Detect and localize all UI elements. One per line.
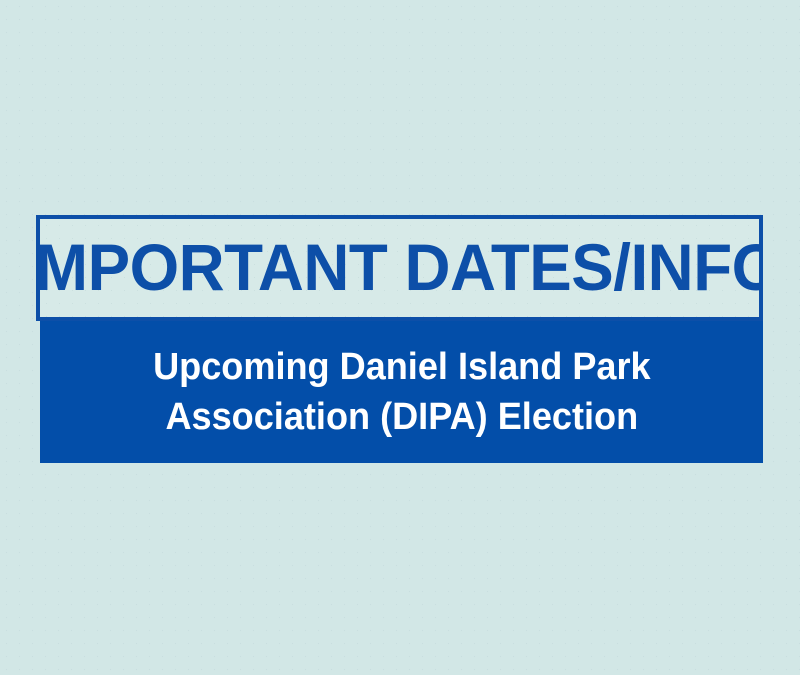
title-box: IMPORTANT DATES/INFO [36, 215, 763, 321]
subtitle-block: Upcoming Daniel Island Park Association … [40, 321, 763, 463]
subtitle-line-1: Upcoming Daniel Island Park [153, 342, 651, 392]
page-title: IMPORTANT DATES/INFO [36, 234, 763, 300]
poster-canvas: IMPORTANT DATES/INFO Upcoming Daniel Isl… [0, 0, 800, 675]
subtitle-line-2: Association (DIPA) Election [165, 392, 638, 442]
announcement-banner: IMPORTANT DATES/INFO Upcoming Daniel Isl… [36, 215, 763, 463]
